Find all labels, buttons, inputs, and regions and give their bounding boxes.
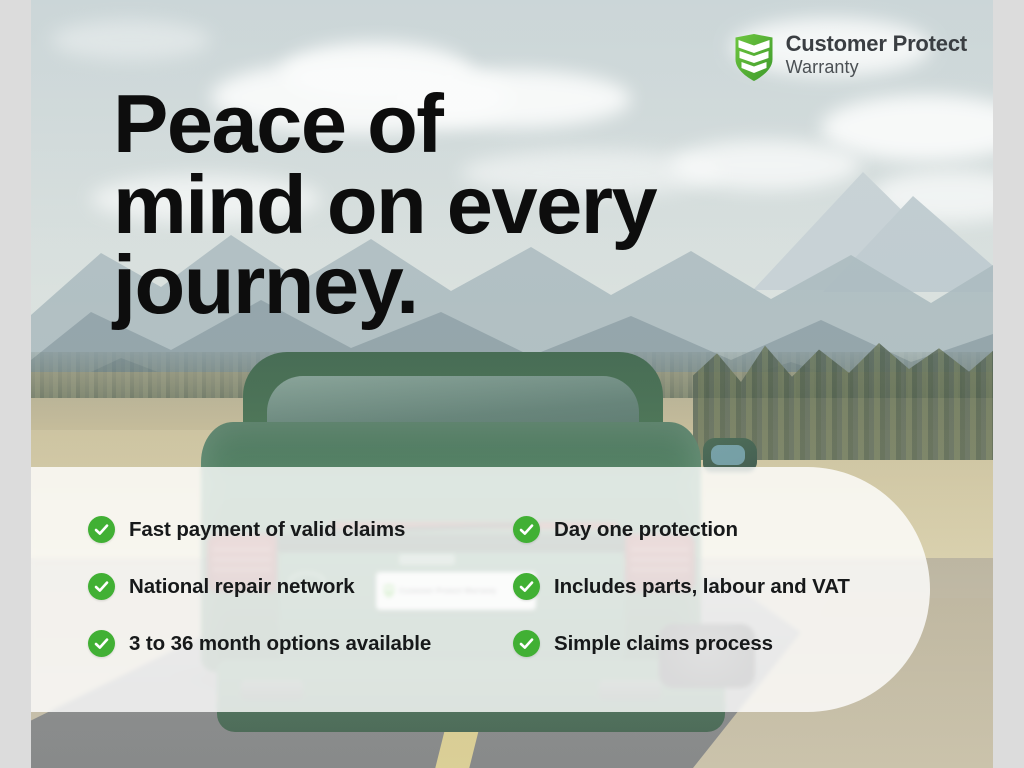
check-circle-icon	[88, 573, 115, 600]
brand-subtitle: Warranty	[786, 57, 967, 79]
feature-label: Fast payment of valid claims	[129, 518, 405, 542]
cloud-icon	[51, 20, 211, 60]
feature-item-national-repair-network: National repair network	[88, 573, 513, 600]
check-circle-icon	[513, 516, 540, 543]
feature-list: Fast payment of valid claims Day one pro…	[88, 516, 850, 657]
letterbox-left	[0, 0, 31, 768]
brand-name: Customer Protect	[786, 32, 967, 55]
feature-label: National repair network	[129, 575, 355, 599]
advert-banner: Customer Protect Warranty Peace of mind …	[0, 0, 1024, 768]
check-circle-icon	[513, 573, 540, 600]
check-circle-icon	[88, 630, 115, 657]
feature-label: Simple claims process	[554, 632, 773, 656]
feature-label: Includes parts, labour and VAT	[554, 575, 850, 599]
feature-item-parts-labour-vat: Includes parts, labour and VAT	[513, 573, 850, 600]
check-circle-icon	[88, 516, 115, 543]
page-title: Peace of mind on every journey.	[113, 84, 656, 326]
feature-label: Day one protection	[554, 518, 738, 542]
feature-label: 3 to 36 month options available	[129, 632, 431, 656]
feature-item-month-options: 3 to 36 month options available	[88, 630, 513, 657]
letterbox-right	[993, 0, 1024, 768]
check-circle-icon	[513, 630, 540, 657]
shield-chevrons-icon	[734, 34, 774, 81]
brand-lockup: Customer Protect Warranty	[734, 32, 967, 81]
feature-item-simple-claims: Simple claims process	[513, 630, 850, 657]
feature-item-fast-payment: Fast payment of valid claims	[88, 516, 513, 543]
feature-item-day-one-protection: Day one protection	[513, 516, 850, 543]
brand-names: Customer Protect Warranty	[786, 32, 967, 79]
